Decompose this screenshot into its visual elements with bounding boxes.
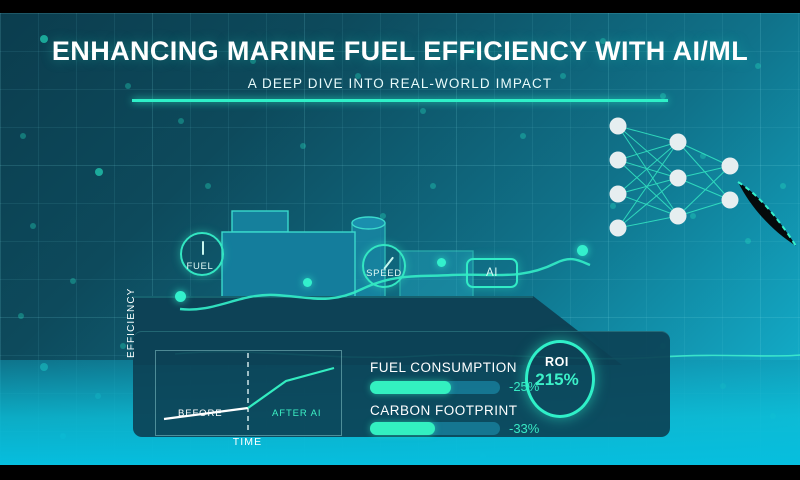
metric-label-fuel-consumption: FUEL CONSUMPTION xyxy=(370,360,517,375)
metric-bar-fill xyxy=(370,422,435,435)
letterbox-top xyxy=(0,0,800,13)
roi-value: 215% xyxy=(525,370,589,390)
metric-label-carbon-footprint: CARBON FOOTPRINT xyxy=(370,403,518,418)
chart-segment-before: BEFORE xyxy=(178,408,222,419)
page-subtitle: A DEEP DIVE INTO REAL-WORLD IMPACT xyxy=(0,76,800,91)
metric-bar-carbon-footprint xyxy=(370,422,500,435)
page-title: ENHANCING MARINE FUEL EFFICIENCY WITH AI… xyxy=(0,36,800,67)
chart-x-axis-label: TIME xyxy=(155,436,340,448)
chart-y-axis-label: EFFICIENCY xyxy=(126,288,137,358)
letterbox-bottom xyxy=(0,465,800,480)
metric-bar-fuel-consumption xyxy=(370,381,500,394)
roi-label: ROI xyxy=(525,355,589,369)
infographic-canvas: FUEL SPEED AI ENHANCING MARINE FUEL EFFI… xyxy=(0,0,800,480)
header-divider xyxy=(132,99,668,102)
metric-bar-fill xyxy=(370,381,451,394)
chart-segment-after: AFTER AI xyxy=(272,408,321,419)
metric-value-carbon-footprint: -33% xyxy=(509,421,539,436)
efficiency-chart xyxy=(155,350,342,436)
